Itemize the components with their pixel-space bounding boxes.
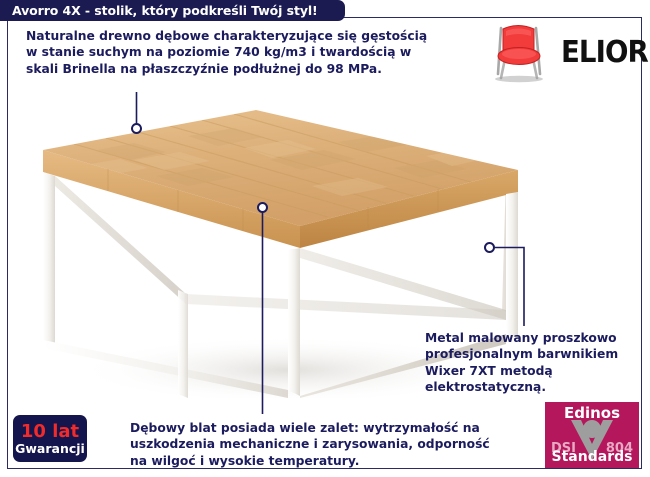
title-banner: Avorro 4X - stolik, który podkreśli Twój… <box>0 0 345 21</box>
callout-text-wood-spec: Naturalne drewno dębowe charakteryzujące… <box>26 28 441 77</box>
red-chair-icon <box>487 18 555 86</box>
callout-dot-metal[interactable] <box>484 242 495 253</box>
brand-logo: ELIOR <box>487 17 637 87</box>
page-title: Avorro 4X - stolik, który podkreśli Twój… <box>0 3 318 18</box>
callout-text-top-benefits: Dębowy blat posiada wiele zalet: wytrzym… <box>130 420 490 469</box>
standards-badge-label: Standards <box>545 449 639 465</box>
standards-badge: Edinos DSI 804 Standards <box>545 402 639 468</box>
callout-dot-tabletop[interactable] <box>257 202 268 213</box>
product-infographic: Avorro 4X - stolik, który podkreśli Twój… <box>0 0 650 477</box>
warranty-years: 10 lat <box>21 422 79 441</box>
callout-dot-wood[interactable] <box>131 123 142 134</box>
brand-wordmark: ELIOR <box>561 35 648 70</box>
callout-text-metal-spec: Metal malowany proszkowo profesjonalnym … <box>425 330 643 396</box>
standards-badge-title: Edinos <box>545 404 639 422</box>
warranty-badge: 10 lat Gwarancji <box>13 415 87 462</box>
warranty-label: Gwarancji <box>15 441 85 456</box>
